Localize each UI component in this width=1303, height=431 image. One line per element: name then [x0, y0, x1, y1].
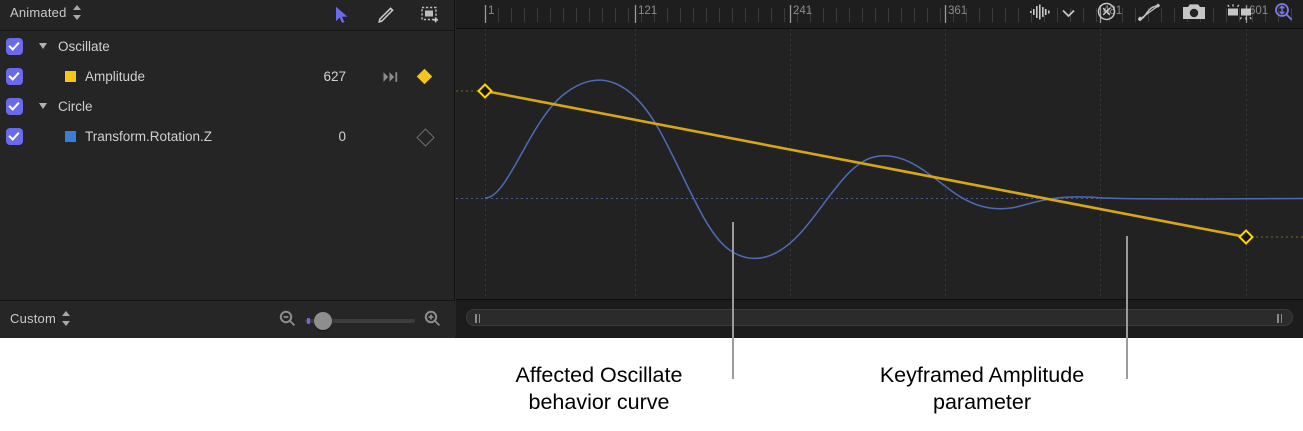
keyframe-marker-end — [1240, 231, 1253, 244]
keyframe-indicator-filled[interactable] — [417, 69, 432, 84]
slider-origin-tick — [307, 318, 310, 324]
edit-tools-group — [332, 0, 440, 30]
callout-line-2: parameter — [838, 389, 1126, 416]
zoom-slider[interactable] — [305, 319, 415, 323]
curve-graph-svg — [456, 29, 1303, 300]
list-item[interactable]: Circle — [0, 91, 454, 121]
parameter-list-bottom-bar: Custom — [0, 300, 455, 338]
callout-oscillate-curve: Affected Oscillate behavior curve — [470, 362, 728, 416]
keyframe-editor-window: Animated — [0, 0, 1303, 338]
curve-editor-toolbar — [1030, 0, 1293, 28]
animated-filter-popup[interactable]: Animated — [10, 5, 82, 20]
parameter-value[interactable]: 627 — [323, 69, 346, 84]
horizontal-scrollbar[interactable] — [466, 309, 1293, 326]
audio-waveform-icon[interactable] — [1030, 4, 1052, 25]
magnifier-minus-icon[interactable] — [279, 310, 296, 332]
list-item[interactable]: Oscillate — [0, 31, 454, 61]
scrollbar-grip-right[interactable] — [1277, 314, 1284, 323]
group-name-label: Oscillate — [58, 39, 110, 54]
curve-graph-area[interactable] — [456, 29, 1303, 300]
enable-checkbox[interactable] — [6, 98, 23, 115]
callout-leader-line-oscillate — [732, 222, 734, 379]
pencil-icon — [377, 6, 395, 24]
ruler-label: 121 — [638, 5, 657, 17]
parameter-list-toolbar: Animated — [0, 0, 454, 31]
curve-editor-bottom-bar — [456, 299, 1303, 338]
callout-line-1: Keyframed Amplitude — [838, 362, 1126, 389]
fit-horizontal-icon[interactable] — [1227, 3, 1252, 26]
select-arrow-tool[interactable] — [332, 5, 352, 25]
callout-leader-line-amplitude — [1126, 236, 1128, 379]
parameter-color-swatch — [65, 71, 76, 82]
parameter-value[interactable]: 0 — [338, 129, 346, 144]
arrow-cursor-icon — [335, 6, 349, 24]
ruler-label: 1 — [488, 5, 494, 17]
keyframe-marker-start — [479, 85, 492, 98]
list-item[interactable]: Transform.Rotation.Z 0 — [0, 121, 454, 151]
marquee-add-tool[interactable] — [420, 5, 440, 25]
parameter-color-swatch — [65, 131, 76, 142]
parameter-list-panel: Animated — [0, 0, 455, 338]
enable-checkbox[interactable] — [6, 128, 23, 145]
stepper-icon — [73, 5, 82, 20]
magnifier-plus-icon[interactable] — [424, 310, 441, 332]
enable-checkbox[interactable] — [6, 38, 23, 55]
keyframe-indicator-open[interactable] — [417, 129, 432, 144]
camera-icon[interactable] — [1183, 3, 1205, 25]
disclosure-triangle-icon[interactable] — [39, 103, 47, 109]
parameter-list[interactable]: Oscillate Amplitude 627 — [0, 31, 454, 299]
zoom-controls — [279, 310, 441, 332]
disclosure-triangle-icon[interactable] — [39, 43, 47, 49]
list-item[interactable]: Amplitude 627 — [0, 61, 454, 91]
circle-x-icon[interactable] — [1097, 2, 1116, 26]
curve-preset-popup[interactable]: Custom — [10, 311, 71, 326]
animation-curve-icon[interactable] — [1138, 3, 1161, 26]
chevron-down-icon[interactable] — [1062, 5, 1075, 23]
magnifier-vertical-icon[interactable] — [1274, 2, 1293, 26]
slider-knob[interactable] — [314, 312, 332, 330]
callout-line-2: behavior curve — [470, 389, 728, 416]
callout-line-1: Affected Oscillate — [470, 362, 728, 389]
ruler-label: 241 — [793, 5, 812, 17]
parameter-name-label: Transform.Rotation.Z — [85, 129, 212, 144]
enable-checkbox[interactable] — [6, 68, 23, 85]
group-name-label: Circle — [58, 99, 93, 114]
curve-editor-pane: 1 121 241 361 481 601 — [456, 0, 1303, 338]
amplitude-keyframe-line — [485, 91, 1246, 237]
scrollbar-grip-left[interactable] — [475, 314, 482, 323]
callout-amplitude-parameter: Keyframed Amplitude parameter — [838, 362, 1126, 416]
ruler-label: 361 — [948, 5, 967, 17]
motion-keyframe-editor-screenshot: Animated — [0, 0, 1303, 431]
next-keyframe-icon[interactable] — [383, 70, 399, 82]
pen-tool[interactable] — [376, 5, 396, 25]
parameter-name-label: Amplitude — [85, 69, 145, 84]
stepper-icon — [62, 311, 71, 326]
marquee-select-add-icon — [421, 6, 440, 24]
curve-preset-label: Custom — [10, 311, 56, 326]
animated-filter-label: Animated — [10, 5, 67, 20]
